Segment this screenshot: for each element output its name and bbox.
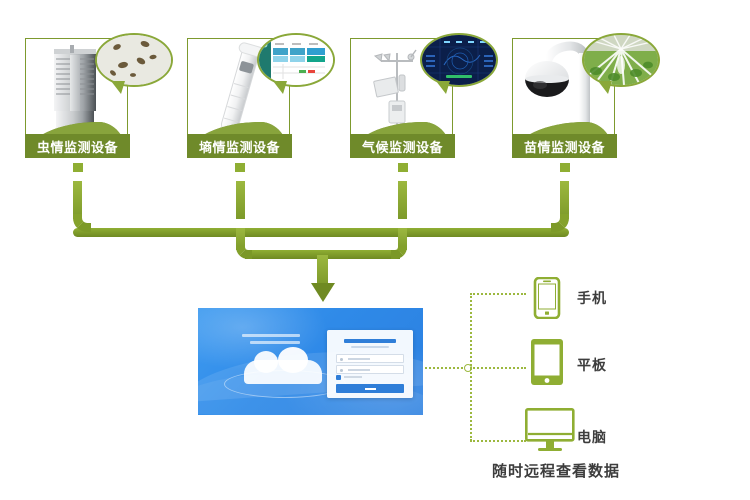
device-card-label-pest: 虫情监测设备 bbox=[25, 134, 130, 158]
dashboard-hero-text bbox=[242, 334, 300, 348]
device-card-label-crop: 苗情监测设备 bbox=[512, 134, 617, 158]
bubble-tail bbox=[436, 81, 450, 94]
card-tick bbox=[235, 163, 245, 172]
diagram-canvas: 虫情监测设备 bbox=[0, 0, 750, 500]
login-title bbox=[344, 339, 396, 343]
weather-dashboard-screenshot bbox=[420, 33, 498, 87]
username-field[interactable] bbox=[336, 354, 404, 363]
client-label-tablet: 平板 bbox=[577, 355, 607, 375]
bubble-soil bbox=[257, 33, 331, 85]
bubble-crop bbox=[582, 33, 656, 85]
bubble-tail bbox=[598, 81, 612, 94]
login-submit-button[interactable] bbox=[336, 384, 404, 393]
client-label-pc: 电脑 bbox=[577, 427, 607, 447]
bubble-tail bbox=[111, 81, 125, 94]
password-field[interactable] bbox=[336, 365, 404, 374]
device-card-label-soil: 墒情监测设备 bbox=[187, 134, 292, 158]
greenhouse-crop-photo bbox=[582, 33, 660, 87]
remember-checkbox[interactable] bbox=[336, 375, 341, 380]
card-tick bbox=[560, 163, 570, 172]
insect-trap-closeup-photo bbox=[95, 33, 173, 87]
dashboard-cloud-illustration bbox=[244, 360, 322, 384]
remote-access-caption: 随时远程查看数据 bbox=[492, 460, 620, 481]
bubble-weather bbox=[420, 33, 494, 85]
bubble-tail bbox=[273, 81, 287, 94]
card-tick bbox=[398, 163, 408, 172]
cloud-platform-login-screenshot[interactable] bbox=[198, 308, 423, 415]
bubble-pest bbox=[95, 33, 169, 85]
client-label-phone: 手机 bbox=[577, 288, 607, 308]
device-card-label-weather: 气候监测设备 bbox=[350, 134, 455, 158]
card-tick bbox=[73, 163, 83, 172]
login-panel[interactable] bbox=[327, 330, 413, 398]
soil-data-table-screenshot bbox=[257, 33, 335, 87]
login-subtitle bbox=[351, 346, 389, 348]
remember-label bbox=[344, 376, 362, 378]
